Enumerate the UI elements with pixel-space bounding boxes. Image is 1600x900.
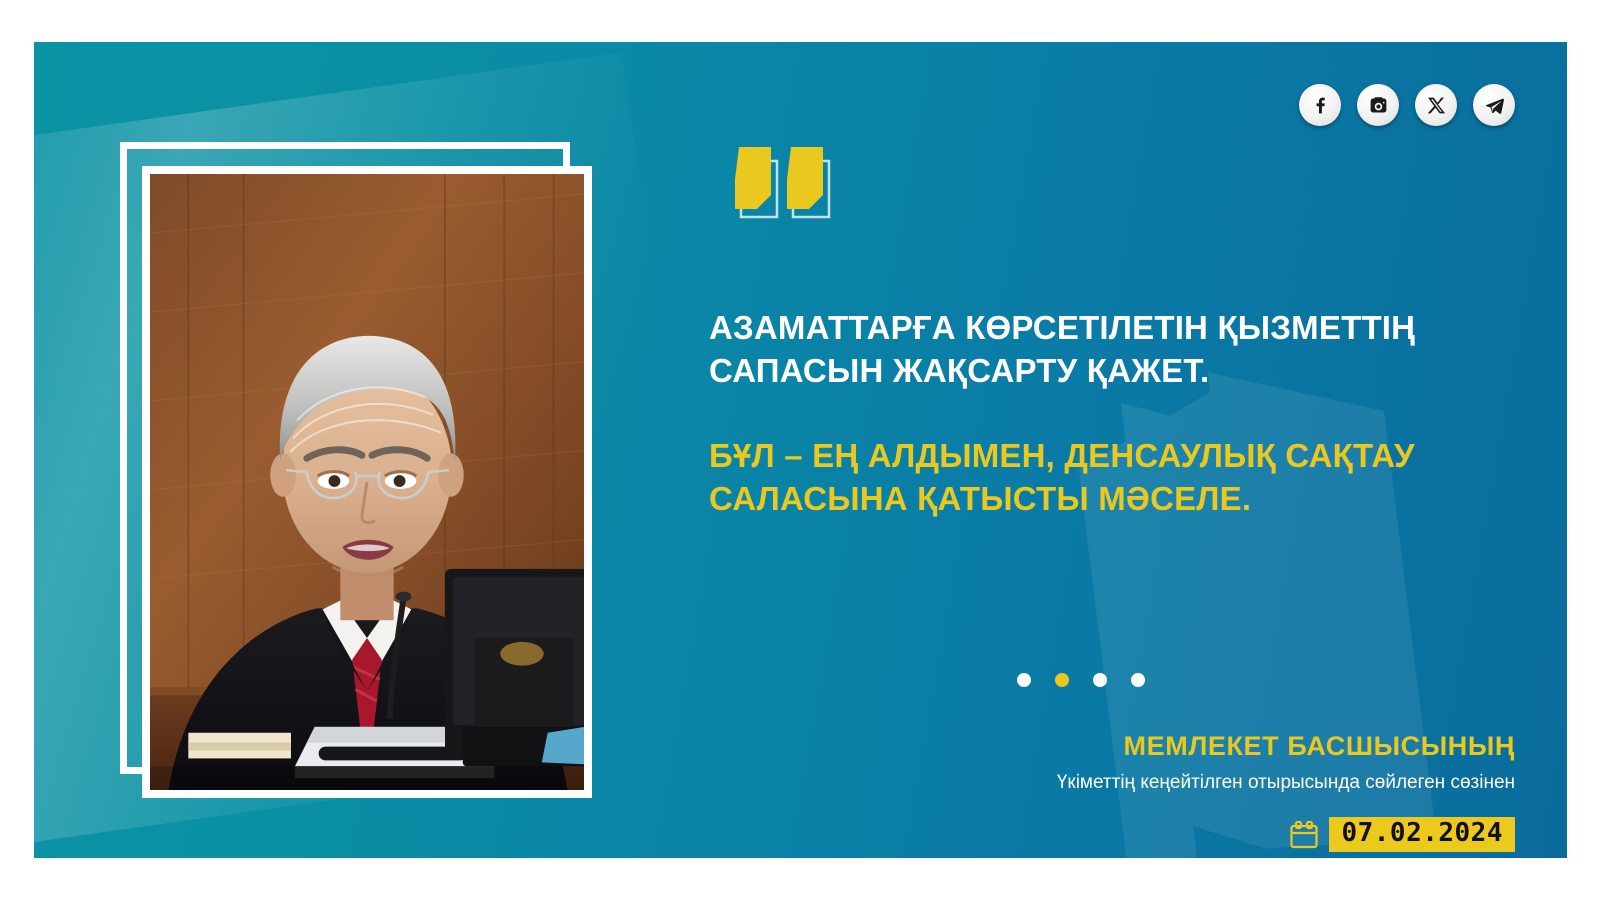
content-column: АЗАМАТТАРҒА КӨРСЕТІЛЕТІН ҚЫЗМЕТТІҢ САПАС…: [639, 42, 1567, 858]
telegram-icon[interactable]: [1473, 84, 1515, 126]
dot-separator: [1017, 673, 1145, 687]
quote-line-1: АЗАМАТТАРҒА КӨРСЕТІЛЕТІН ҚЫЗМЕТТІҢ: [709, 307, 1519, 350]
quote-card: АЗАМАТТАРҒА КӨРСЕТІЛЕТІН ҚЫЗМЕТТІҢ САПАС…: [34, 42, 1567, 858]
x-twitter-icon[interactable]: [1415, 84, 1457, 126]
quote-spacer: [709, 393, 1519, 435]
dot-2: [1055, 673, 1069, 687]
quote-text: АЗАМАТТАРҒА КӨРСЕТІЛЕТІН ҚЫЗМЕТТІҢ САПАС…: [709, 307, 1519, 521]
facebook-icon[interactable]: [1299, 84, 1341, 126]
date-badge: 07.02.2024: [1329, 817, 1515, 852]
quote-line-2: САПАСЫН ЖАҚСАРТУ ҚАЖЕТ.: [709, 350, 1519, 393]
quote-mark-icon: [727, 139, 847, 234]
instagram-icon[interactable]: [1357, 84, 1399, 126]
quote-line-4: САЛАСЫНА ҚАТЫСТЫ МӘСЕЛЕ.: [709, 478, 1519, 521]
attribution: МЕМЛЕКЕТ БАСШЫСЫНЫҢ Үкіметтің кеңейтілге…: [755, 732, 1515, 795]
quote-line-3: БҰЛ – ЕҢ АЛДЫМЕН, ДЕНСАУЛЫҚ САҚТАУ: [709, 435, 1519, 478]
dot-4: [1131, 673, 1145, 687]
dot-1: [1017, 673, 1031, 687]
portrait-block: [84, 92, 604, 812]
attribution-title: МЕМЛЕКЕТ БАСШЫСЫНЫҢ: [755, 732, 1515, 762]
portrait-photo: [146, 170, 588, 794]
date-row: 07.02.2024: [1289, 817, 1515, 852]
calendar-icon: [1289, 820, 1319, 850]
social-links: [1299, 84, 1515, 126]
attribution-subtitle: Үкіметтің кеңейтілген отырысында сөйлеге…: [755, 771, 1515, 796]
dot-3: [1093, 673, 1107, 687]
